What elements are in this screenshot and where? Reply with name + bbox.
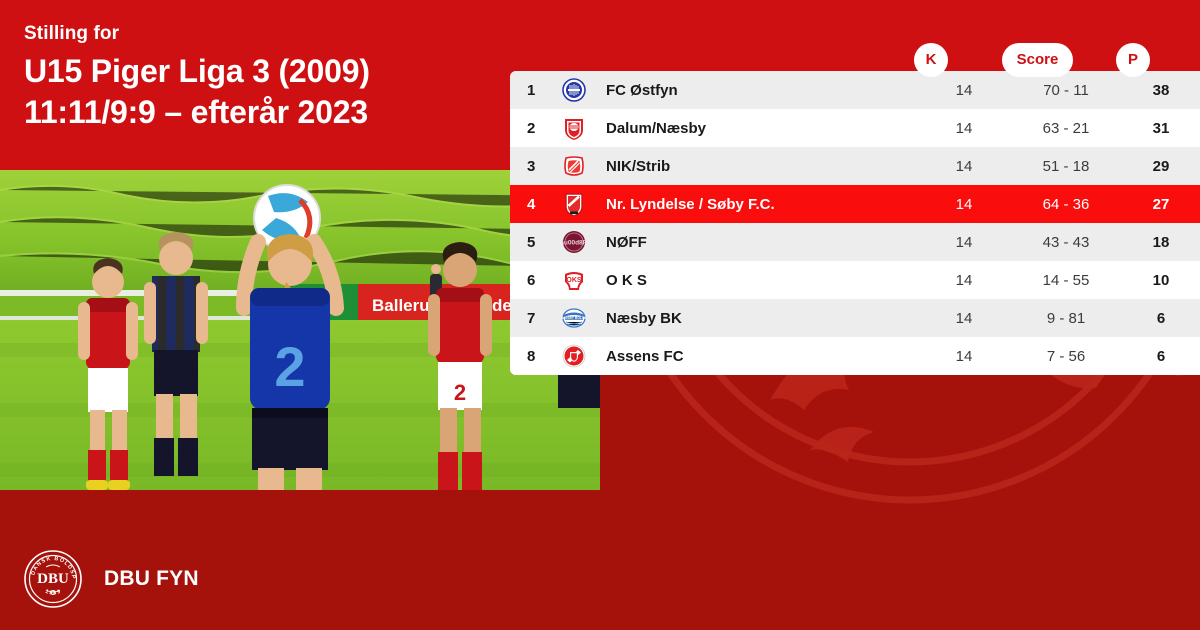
row-team-name: NØFF (596, 234, 918, 251)
row-score: 14 - 55 (1010, 272, 1122, 289)
row-points: 18 (1122, 234, 1200, 251)
svg-text:2: 2 (454, 380, 466, 405)
header-text-block: Stilling for U15 Piger Liga 3 (2009) 11:… (24, 22, 370, 134)
naesby-bk-crest-icon: N\u00c6SBY BOLDKLUB (552, 306, 596, 330)
footer: DANSK BOLDSPIL UNION 1889 DBU DBU FYN (24, 550, 199, 608)
row-team-name: FC Østfyn (596, 82, 918, 99)
row-played: 14 (918, 158, 1010, 175)
table-row[interactable]: 6 OKS O K S 14 14 - 55 10 (510, 261, 1200, 299)
table-row[interactable]: 5 N\u00d8FF NØFF 14 43 - 43 18 (510, 223, 1200, 261)
header-kicker: Stilling for (24, 22, 370, 46)
table-row[interactable]: 1 FC Østfyn 14 70 - 11 3 (510, 71, 1200, 109)
row-position: 4 (510, 196, 552, 213)
row-points: 29 (1122, 158, 1200, 175)
row-played: 14 (918, 272, 1010, 289)
svg-text:DBU: DBU (37, 571, 69, 587)
svg-text:N\u00c6SBY BOLDKLUB: N\u00c6SBY BOLDKLUB (562, 316, 586, 320)
standings-table: 1 FC Østfyn 14 70 - 11 3 (510, 71, 1200, 375)
row-team-name: O K S (596, 272, 918, 289)
row-position: 2 (510, 120, 552, 137)
row-played: 14 (918, 234, 1010, 251)
row-team-name: Næsby BK (596, 310, 918, 327)
table-row-highlighted[interactable]: 4 Nr. Lyndelse / Søby F.C. 14 64 - 36 27 (510, 185, 1200, 223)
assens-fc-crest-icon (552, 344, 596, 368)
oks-crest-icon: OKS (552, 268, 596, 292)
column-header-p: P (1116, 43, 1150, 77)
row-points: 6 (1122, 310, 1200, 327)
nik-strib-crest-icon (552, 154, 596, 178)
row-played: 14 (918, 348, 1010, 365)
row-score: 9 - 81 (1010, 310, 1122, 327)
row-position: 3 (510, 158, 552, 175)
column-header-k: K (914, 43, 948, 77)
header-title-line-1: U15 Piger Liga 3 (2009) (24, 51, 370, 93)
row-score: 64 - 36 (1010, 196, 1122, 213)
noeff-crest-icon: N\u00d8FF (552, 230, 596, 254)
table-row[interactable]: 7 N\u00c6SBY BOLDKLUB Næsby BK 14 9 - 81… (510, 299, 1200, 337)
table-row[interactable]: 3 NIK/Strib 14 51 - 18 29 (510, 147, 1200, 185)
table-row[interactable]: 8 Assens FC 14 7 - 56 6 (510, 337, 1200, 375)
standings-graphic: D A S D Stilling for U15 Piger Liga 3 (2… (0, 0, 1200, 630)
row-played: 14 (918, 82, 1010, 99)
row-score: 7 - 56 (1010, 348, 1122, 365)
svg-text:2: 2 (274, 335, 305, 398)
row-score: 63 - 21 (1010, 120, 1122, 137)
row-position: 6 (510, 272, 552, 289)
row-played: 14 (918, 196, 1010, 213)
header-title-line-2: 11:11/9:9 – efterår 2023 (24, 92, 370, 134)
row-position: 7 (510, 310, 552, 327)
row-score: 70 - 11 (1010, 82, 1122, 99)
row-score: 51 - 18 (1010, 158, 1122, 175)
column-header-score: Score (1002, 43, 1073, 77)
table-row[interactable]: 2 Dalum/Næsby 14 63 - 21 31 (510, 109, 1200, 147)
dbu-seal-icon: DANSK BOLDSPIL UNION 1889 DBU (24, 550, 82, 608)
fc-oestfyn-crest-icon (552, 78, 596, 102)
row-position: 1 (510, 82, 552, 99)
row-position: 5 (510, 234, 552, 251)
svg-text:N\u00d8FF: N\u00d8FF (562, 240, 586, 247)
row-team-name: Nr. Lyndelse / Søby F.C. (596, 196, 918, 213)
footer-org-label: DBU FYN (104, 567, 199, 591)
row-team-name: Assens FC (596, 348, 918, 365)
row-team-name: NIK/Strib (596, 158, 918, 175)
row-points: 38 (1122, 82, 1200, 99)
dalum-naesby-crest-icon (552, 116, 596, 140)
row-played: 14 (918, 120, 1010, 137)
nr-lyndelse-soeby-crest-icon (552, 192, 596, 216)
svg-text:OKS: OKS (566, 277, 582, 284)
row-team-name: Dalum/Næsby (596, 120, 918, 137)
row-points: 31 (1122, 120, 1200, 137)
row-points: 6 (1122, 348, 1200, 365)
row-score: 43 - 43 (1010, 234, 1122, 251)
row-points: 10 (1122, 272, 1200, 289)
row-position: 8 (510, 348, 552, 365)
row-points: 27 (1122, 196, 1200, 213)
svg-text:de: de (492, 296, 512, 315)
row-played: 14 (918, 310, 1010, 327)
